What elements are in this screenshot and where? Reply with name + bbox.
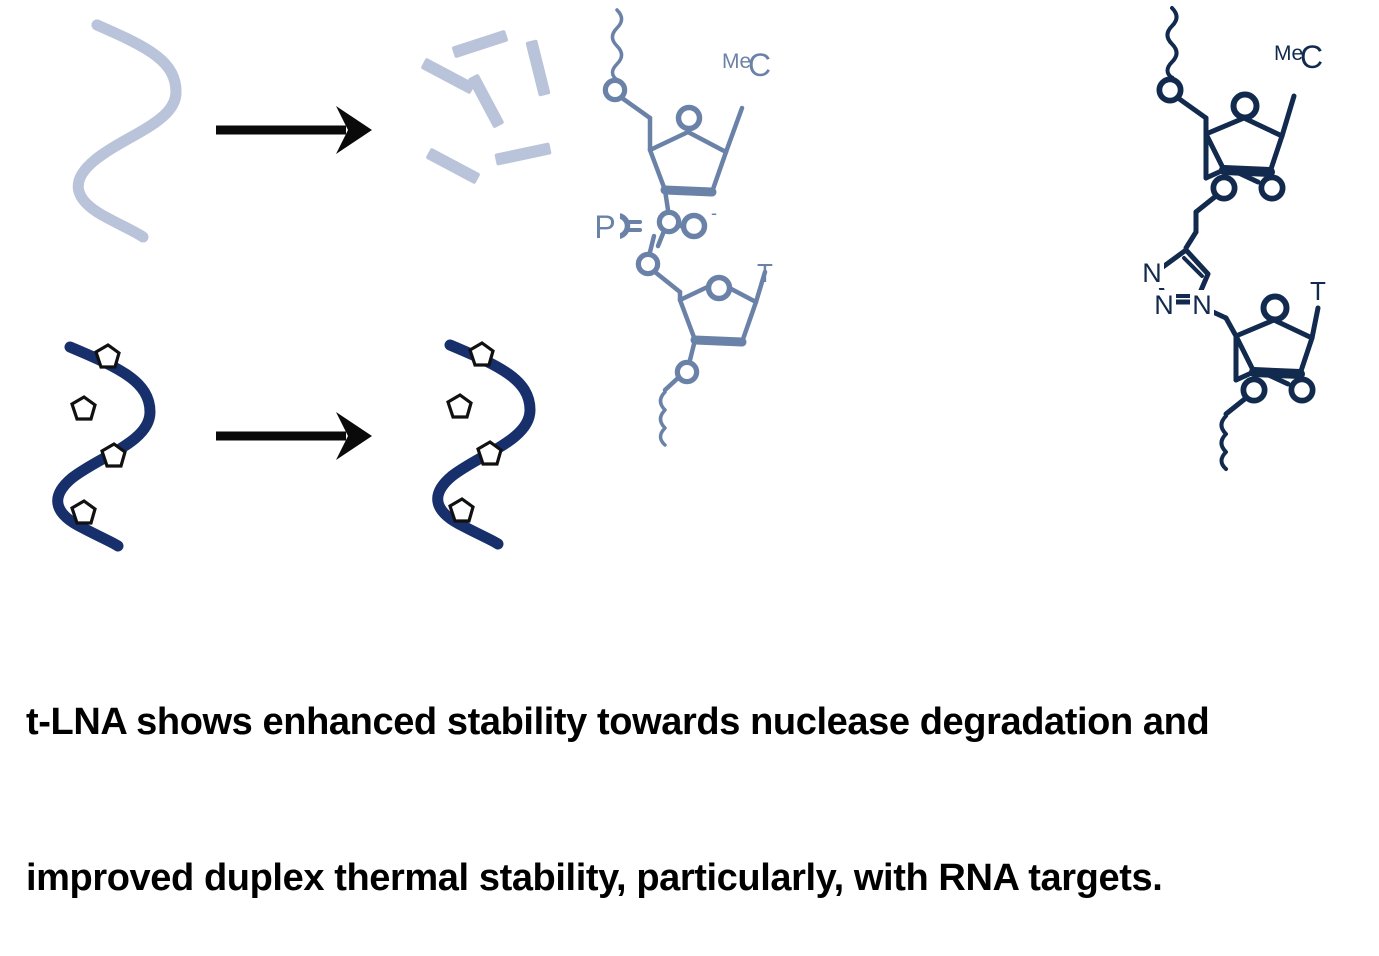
dna-phosphorus-letter: P [594, 209, 615, 245]
tlna-sugar-ring-1 [1206, 118, 1282, 172]
arrow-dna-degradation [216, 106, 372, 154]
tlna-dinucleotide-structure [1156, 8, 1318, 469]
triazole-n3-glyph: N [1154, 290, 1174, 320]
triazole-n1-glyph: N [1192, 290, 1212, 320]
arrow-tlna-stable [216, 412, 372, 460]
phosphorus-glyph: P [590, 208, 620, 245]
dna-base-1-prefix: Me [722, 50, 751, 73]
figure-caption: t-LNA shows enhanced stability towards n… [26, 592, 1366, 956]
tlna-sugar-ring-2 [1236, 320, 1312, 374]
caption-line-1: t-LNA shows enhanced stability towards n… [26, 696, 1366, 748]
tlna-base-2-letter: T [1310, 276, 1326, 306]
tlna-base-1-letter: C [1300, 39, 1323, 75]
tlna-strand-before [58, 347, 150, 546]
dna-phosphate-charge: - [711, 203, 717, 223]
dna-sugar-ring-1 [650, 132, 726, 192]
dna-base-1-letter: C [748, 47, 771, 83]
triazole-n2-glyph: N [1142, 258, 1162, 288]
tlna-base-1-prefix: Me [1274, 42, 1303, 65]
dna-base-2-letter: T [757, 258, 773, 288]
caption-line-2: improved duplex thermal stability, parti… [26, 852, 1366, 904]
dna-fragments [420, 30, 551, 185]
dna-strand-intact [78, 25, 176, 237]
